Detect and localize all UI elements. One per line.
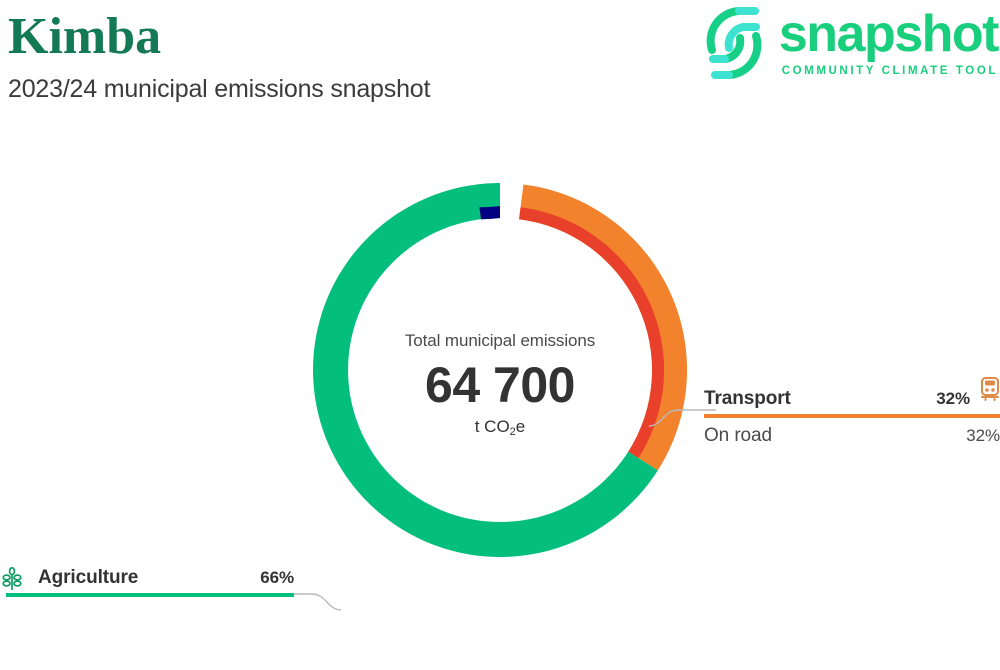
wheat-icon bbox=[0, 567, 24, 593]
callout-transport-percent: 32% bbox=[936, 389, 970, 409]
callout-on-road-percent: 32% bbox=[966, 426, 1000, 446]
page-header: Kimba 2023/24 municipal emissions snapsh… bbox=[0, 0, 1000, 130]
callout-agriculture-percent: 66% bbox=[260, 568, 294, 588]
donut-slice-transport-outer bbox=[519, 184, 687, 470]
emissions-donut-chart: Total municipal emissions 64 700 t CO2e … bbox=[0, 130, 1000, 670]
logo-tagline: COMMUNITY CLIMATE TOOL bbox=[779, 63, 998, 79]
callout-on-road-name: On road bbox=[704, 425, 772, 447]
logo-wordmark: snapshot bbox=[779, 6, 998, 62]
callout-on-road-row[interactable]: On road 32% bbox=[704, 418, 1000, 447]
callout-agriculture-bar bbox=[6, 593, 294, 597]
donut-rings bbox=[310, 180, 690, 560]
donut-slice-on-road-inner bbox=[519, 207, 664, 458]
snapshot-logo: snapshot COMMUNITY CLIMATE TOOL bbox=[699, 4, 998, 94]
page-subtitle: 2023/24 municipal emissions snapshot bbox=[8, 72, 430, 106]
page-title: Kimba bbox=[8, 8, 161, 66]
spiral-swirl-icon bbox=[699, 4, 769, 82]
callout-transport-row: Transport 32% bbox=[704, 388, 1000, 410]
callout-transport-name: Transport bbox=[704, 388, 791, 410]
train-icon bbox=[978, 376, 1000, 402]
callout-agriculture-row: Agriculture 66% bbox=[6, 567, 294, 589]
donut-slice-other-inner bbox=[479, 206, 500, 219]
callout-transport[interactable]: Transport 32% On road 32% bbox=[704, 388, 1000, 447]
callout-agriculture[interactable]: Agriculture 66% bbox=[6, 567, 294, 597]
callout-agriculture-name: Agriculture bbox=[38, 567, 138, 589]
